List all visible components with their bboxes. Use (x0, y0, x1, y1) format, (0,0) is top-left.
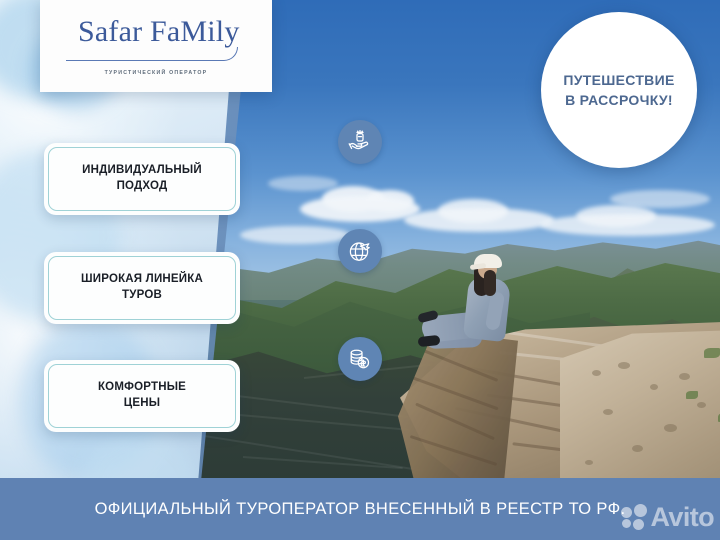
logo-subtitle: ТУРИСТИЧЕСКИЙ ОПЕРАТОР (105, 70, 208, 76)
feature-card-comfortable-prices[interactable]: КОМФОРТНЫЕ ЦЕНЫ (44, 360, 240, 432)
person-on-ledge (430, 252, 540, 362)
feature-label: ИНДИВИДУАЛЬНЫЙ ПОДХОД (72, 163, 212, 194)
footer-text: ОФИЦИАЛЬНЫЙ ТУРОПЕРАТОР ВНЕСЕННЫЙ В РЕЕС… (95, 500, 626, 519)
cloud (540, 214, 715, 236)
globe-plane-icon (338, 229, 382, 273)
logo-card[interactable]: Safar FaMily ТУРИСТИЧЕСКИЙ ОПЕРАТОР (40, 0, 272, 92)
cloud (404, 208, 554, 232)
cloud (268, 176, 338, 191)
badge-label: ПУТЕШЕСТВИЕ В РАССРОЧКУ! (563, 70, 674, 111)
installment-badge[interactable]: ПУТЕШЕСТВИЕ В РАССРОЧКУ! (541, 12, 697, 168)
logo-mark: Safar FaMily (66, 17, 246, 61)
poster-canvas: Safar FaMily ТУРИСТИЧЕСКИЙ ОПЕРАТОР ИНДИ… (0, 0, 720, 540)
cloud (240, 226, 350, 244)
hand-person-icon (338, 120, 382, 164)
cloud (300, 196, 420, 222)
footer-bar: ОФИЦИАЛЬНЫЙ ТУРОПЕРАТОР ВНЕСЕННЫЙ В РЕЕС… (0, 478, 720, 540)
feature-card-individual-approach[interactable]: ИНДИВИДУАЛЬНЫЙ ПОДХОД (44, 143, 240, 215)
feature-card-wide-tour-range[interactable]: ШИРОКАЯ ЛИНЕЙКА ТУРОВ (44, 252, 240, 324)
feature-label: КОМФОРТНЫЕ ЦЕНЫ (88, 380, 196, 411)
coins-icon (338, 337, 382, 381)
logo-text: Safar FaMily (78, 15, 240, 49)
feature-label: ШИРОКАЯ ЛИНЕЙКА ТУРОВ (71, 272, 213, 303)
logo-swoosh-icon (66, 47, 238, 61)
